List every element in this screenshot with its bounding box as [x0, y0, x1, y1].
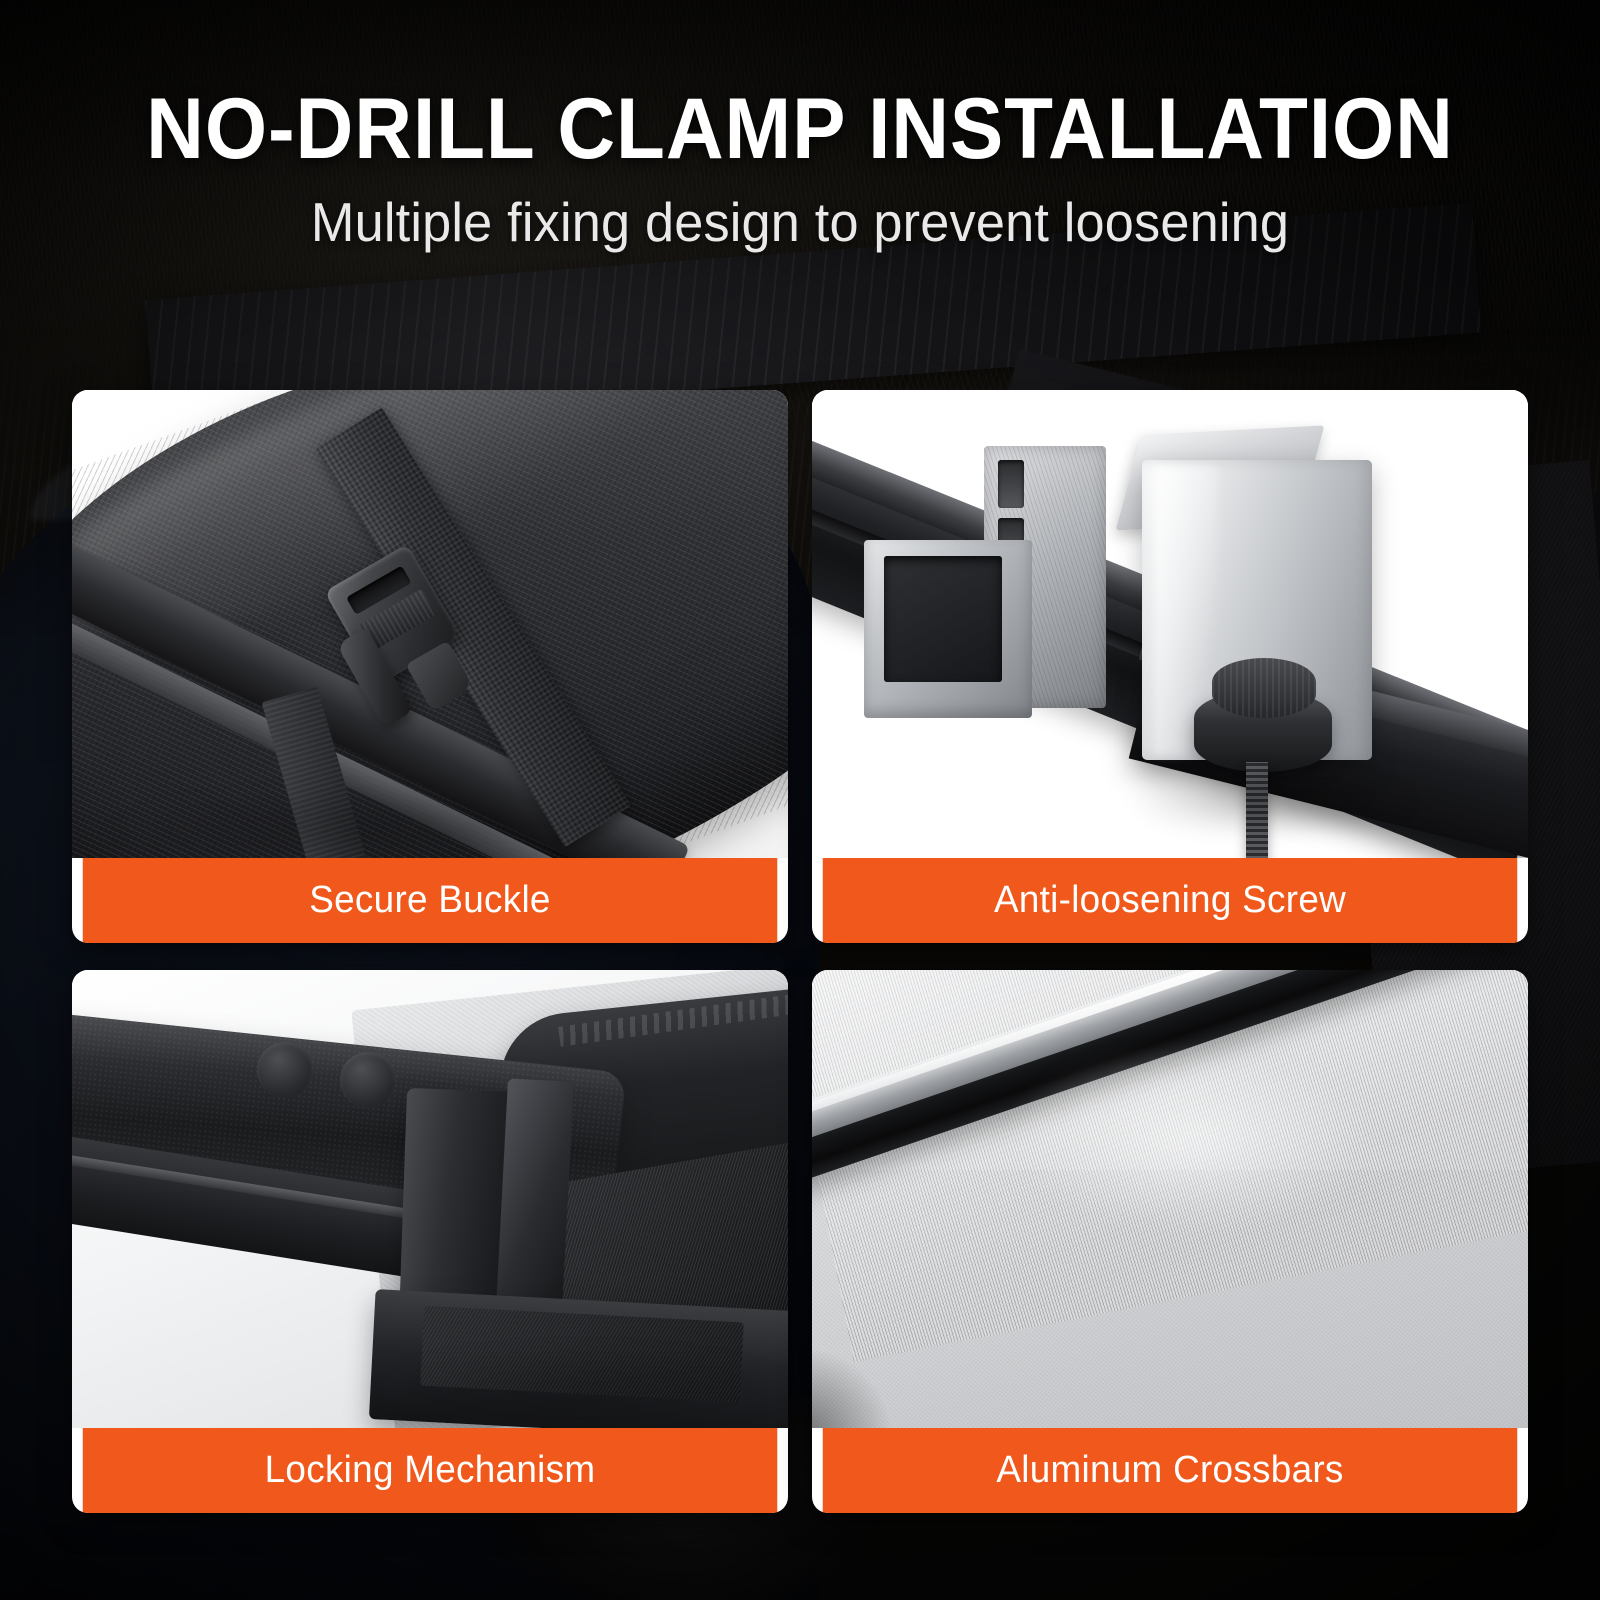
feature-card-anti-loosening-screw[interactable]: Anti-loosening Screw	[812, 390, 1528, 943]
feature-photo-aluminum-crossbars	[812, 970, 1528, 1428]
photo-light-glow	[932, 1010, 1452, 1270]
thumb-knob-knurling	[1212, 658, 1316, 718]
feature-caption-label: Aluminum Crossbars	[996, 1449, 1343, 1492]
page-subtitle: Multiple fixing design to prevent loosen…	[40, 194, 1560, 252]
feature-photo-locking-mechanism	[72, 970, 788, 1428]
feature-caption-label: Locking Mechanism	[265, 1449, 596, 1492]
feature-card-secure-buckle[interactable]: Secure Buckle	[72, 390, 788, 943]
feature-caption-bar-locking-mechanism: Locking Mechanism	[83, 1428, 778, 1513]
feature-photo-anti-loosening-screw	[812, 390, 1528, 858]
feature-caption-bar-aluminum-crossbars: Aluminum Crossbars	[823, 1428, 1518, 1513]
feature-card-locking-mechanism[interactable]: Locking Mechanism	[72, 970, 788, 1513]
feature-caption-label: Anti-loosening Screw	[994, 879, 1346, 922]
photo-corner-shadow	[812, 1258, 982, 1428]
feature-card-aluminum-crossbars[interactable]: Aluminum Crossbars	[812, 970, 1528, 1513]
feature-photo-secure-buckle	[72, 390, 788, 858]
feature-card-grid: Secure Buckle	[72, 390, 1528, 1513]
photo-contact-shadow	[72, 768, 788, 858]
clamp-slot	[998, 460, 1024, 508]
clamp-jaw-opening	[884, 556, 1002, 682]
feature-caption-label: Secure Buckle	[309, 879, 550, 922]
locking-latch-arm	[496, 1078, 574, 1311]
feature-caption-bar-secure-buckle: Secure Buckle	[83, 858, 778, 943]
page-title: NO-DRILL CLAMP INSTALLATION	[56, 86, 1544, 172]
photo-contact-shadow	[1062, 746, 1482, 856]
feature-caption-bar-anti-loosening-screw: Anti-loosening Screw	[823, 858, 1518, 943]
photo-contact-shadow	[272, 1328, 788, 1428]
product-feature-banner: NO-DRILL CLAMP INSTALLATION Multiple fix…	[0, 0, 1600, 1600]
banner-header: NO-DRILL CLAMP INSTALLATION Multiple fix…	[0, 86, 1600, 252]
